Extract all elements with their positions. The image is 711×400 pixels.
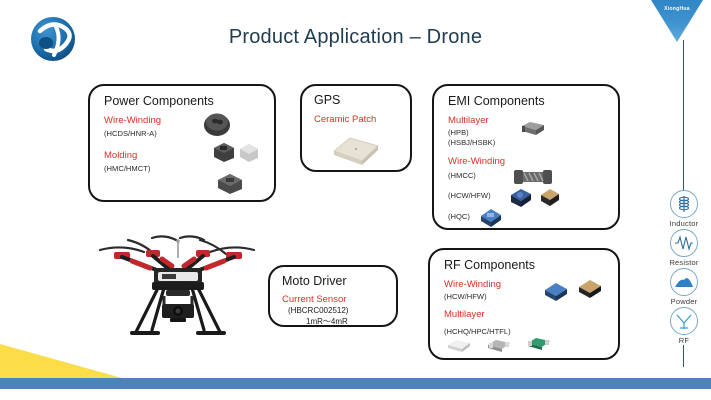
rf-chip-green-photo [526,336,552,357]
emi-group-0-name: Multilayer [448,115,489,126]
rf-chip-white-photo [446,338,472,359]
rf-chip-gray-photo [486,338,512,359]
rail-connector-line [683,40,684,192]
rf-group-1-codes: (HCHQ/HPC/HTFL) [444,327,511,336]
power-title: Power Components [104,94,214,108]
page-title: Product Application – Drone [0,26,711,49]
box-power-components: Power Components Wire-Winding (HCDS/HNR-… [88,84,276,202]
rf-blue-choke-photo [542,280,570,309]
hexacopter-drone-photo [92,232,264,344]
power-group-0-codes: (HCDS/HNR-A) [104,129,157,138]
emi-group-1-codes: (HMCC) [448,171,476,180]
yellow-corner-decor [0,344,122,378]
emi-title: EMI Components [448,94,545,108]
rf-group-0-codes: (HCW/HFW) [444,292,487,301]
emi-group-1-name: Wire-Winding [448,156,505,167]
gps-ceramic-patch-photo [330,134,382,173]
bottom-blue-bar [0,378,711,389]
box-moto-driver: Moto Driver Current Sensor (HBCRC002512)… [268,265,398,327]
inductor-coil-icon [670,190,698,218]
emi-blue-choke-photo [508,186,534,215]
slide-canvas: Product Application – Drone XiongHua Ind… [0,0,711,400]
rail-item-powder[interactable]: Powder [661,268,707,306]
rail-item-rf[interactable]: RF [661,307,707,345]
rail-label-inductor: Inductor [661,219,707,228]
rf-title: RF Components [444,258,535,272]
box-rf-components: RF Components Wire-Winding (HCW/HFW) Mul… [428,248,620,360]
emi-group-1-codes2: (HCW/HFW) [448,191,491,200]
rf-group-1-name: Multilayer [444,309,485,320]
emi-group-0-codes2: (HSBJ/HSBK) [448,138,495,147]
rail-item-inductor[interactable]: Inductor [661,190,707,228]
rail-label-powder: Powder [661,297,707,306]
power-group-1-codes: (HMC/HMCT) [104,164,150,173]
emi-group-1-codes3: (HQC) [448,212,470,221]
resistor-zigzag-icon [670,229,698,257]
emi-hqc-choke-photo [478,206,504,235]
gps-group-0-name: Ceramic Patch [314,114,376,125]
moto-group-0-name: Current Sensor [282,294,346,305]
gps-title: GPS [314,93,340,107]
power-inductor-round-photo [202,112,232,143]
power-molded-inductor-photo [215,172,245,201]
emi-group-0-codes: (HPB) [448,128,469,137]
rf-group-0-name: Wire-Winding [444,279,501,290]
emi-copper-choke-photo [538,186,562,215]
box-gps: GPS Ceramic Patch [300,84,412,172]
rf-antenna-icon [670,307,698,335]
moto-title: Moto Driver [282,274,347,288]
rf-copper-choke-photo [576,277,604,306]
powder-mound-icon [670,268,698,296]
box-emi-components: EMI Components Multilayer (HPB) (HSBJ/HS… [432,84,620,230]
emi-multilayer-bead-photo [520,120,546,143]
rail-connector-line-bottom [683,345,684,367]
moto-group-0-range: 1mR～4mR [306,316,348,327]
power-group-0-name: Wire-Winding [104,115,161,126]
power-molding-chip-dark-photo [212,141,236,168]
brand-label: XiongHua [651,6,703,12]
rail-label-resistor: Resistor [661,258,707,267]
bottom-white-strip [0,389,711,400]
moto-group-0-codes: (HBCRC002512) [288,306,348,315]
rail-label-rf: RF [661,336,707,345]
power-group-1-name: Molding [104,150,137,161]
power-molding-chip-light-photo [238,142,260,169]
rail-item-resistor[interactable]: Resistor [661,229,707,267]
